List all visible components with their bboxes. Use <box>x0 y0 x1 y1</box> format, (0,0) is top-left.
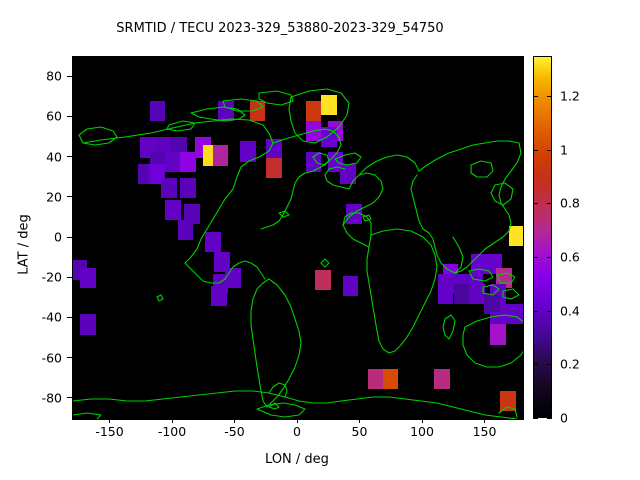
x-tick-label: 50 <box>352 424 368 439</box>
x-tick-mark <box>484 418 485 423</box>
x-tick-label: -100 <box>158 424 186 439</box>
x-tick-mark <box>422 418 423 423</box>
x-tick-label: 0 <box>293 424 301 439</box>
x-tick-mark <box>109 418 110 423</box>
y-tick-label: 80 <box>46 69 62 84</box>
x-tick-mark <box>172 418 173 423</box>
x-tick-label: -50 <box>224 424 244 439</box>
page-title: SRMTID / TECU 2023-329_53880-2023-329_54… <box>0 21 560 36</box>
y-tick-label: -40 <box>42 310 62 325</box>
colorbar-tick-mark <box>547 257 552 258</box>
y-tick-mark <box>67 277 72 278</box>
colorbar-tick-mark <box>547 96 552 97</box>
y-tick-label: 60 <box>46 109 62 124</box>
colorbar-tick-mark <box>533 257 538 258</box>
y-tick-mark <box>67 196 72 197</box>
colorbar-tick-label: 0.2 <box>560 357 580 372</box>
colorbar-tick-mark <box>533 418 538 419</box>
x-tick-mark <box>297 418 298 423</box>
y-tick-label: -80 <box>42 390 62 405</box>
colorbar-tick-mark <box>547 418 552 419</box>
colorbar-tick-label: 1 <box>560 142 568 157</box>
y-tick-label: 0 <box>54 230 62 245</box>
colorbar-tick-mark <box>547 311 552 312</box>
y-tick-mark <box>67 397 72 398</box>
x-tick-mark <box>234 418 235 423</box>
tid-map-figure: SRMTID / TECU 2023-329_53880-2023-329_54… <box>0 0 640 480</box>
y-axis-label: LAT / deg <box>17 175 32 315</box>
colorbar-tick-label: 0.6 <box>560 250 580 265</box>
colorbar-tick-mark <box>533 364 538 365</box>
colorbar-tick-mark <box>533 150 538 151</box>
map-plot-area[interactable] <box>72 56 524 420</box>
y-tick-mark <box>67 237 72 238</box>
colorbar-tick-mark <box>533 96 538 97</box>
x-tick-label: 100 <box>410 424 434 439</box>
colorbar-tick-label: 1.2 <box>560 89 580 104</box>
x-tick-label: 150 <box>473 424 497 439</box>
colorbar-tick-label: 0 <box>560 411 568 426</box>
y-tick-mark <box>67 116 72 117</box>
x-tick-mark <box>359 418 360 423</box>
y-tick-label: -60 <box>42 350 62 365</box>
colorbar-tick-mark <box>533 203 538 204</box>
coastline-overlay <box>73 57 523 419</box>
colorbar-gradient <box>534 57 551 417</box>
y-tick-label: 20 <box>46 189 62 204</box>
y-tick-label: 40 <box>46 149 62 164</box>
colorbar-tick-mark <box>547 150 552 151</box>
colorbar-tick-label: 0.4 <box>560 303 580 318</box>
y-tick-mark <box>67 357 72 358</box>
x-axis-label: LON / deg <box>72 452 522 467</box>
y-tick-mark <box>67 156 72 157</box>
y-tick-label: -20 <box>42 270 62 285</box>
colorbar-tick-mark <box>547 203 552 204</box>
y-tick-mark <box>67 317 72 318</box>
x-tick-label: -150 <box>95 424 123 439</box>
colorbar-tick-label: 0.8 <box>560 196 580 211</box>
colorbar-tick-mark <box>547 364 552 365</box>
y-tick-mark <box>67 76 72 77</box>
colorbar-tick-mark <box>533 311 538 312</box>
